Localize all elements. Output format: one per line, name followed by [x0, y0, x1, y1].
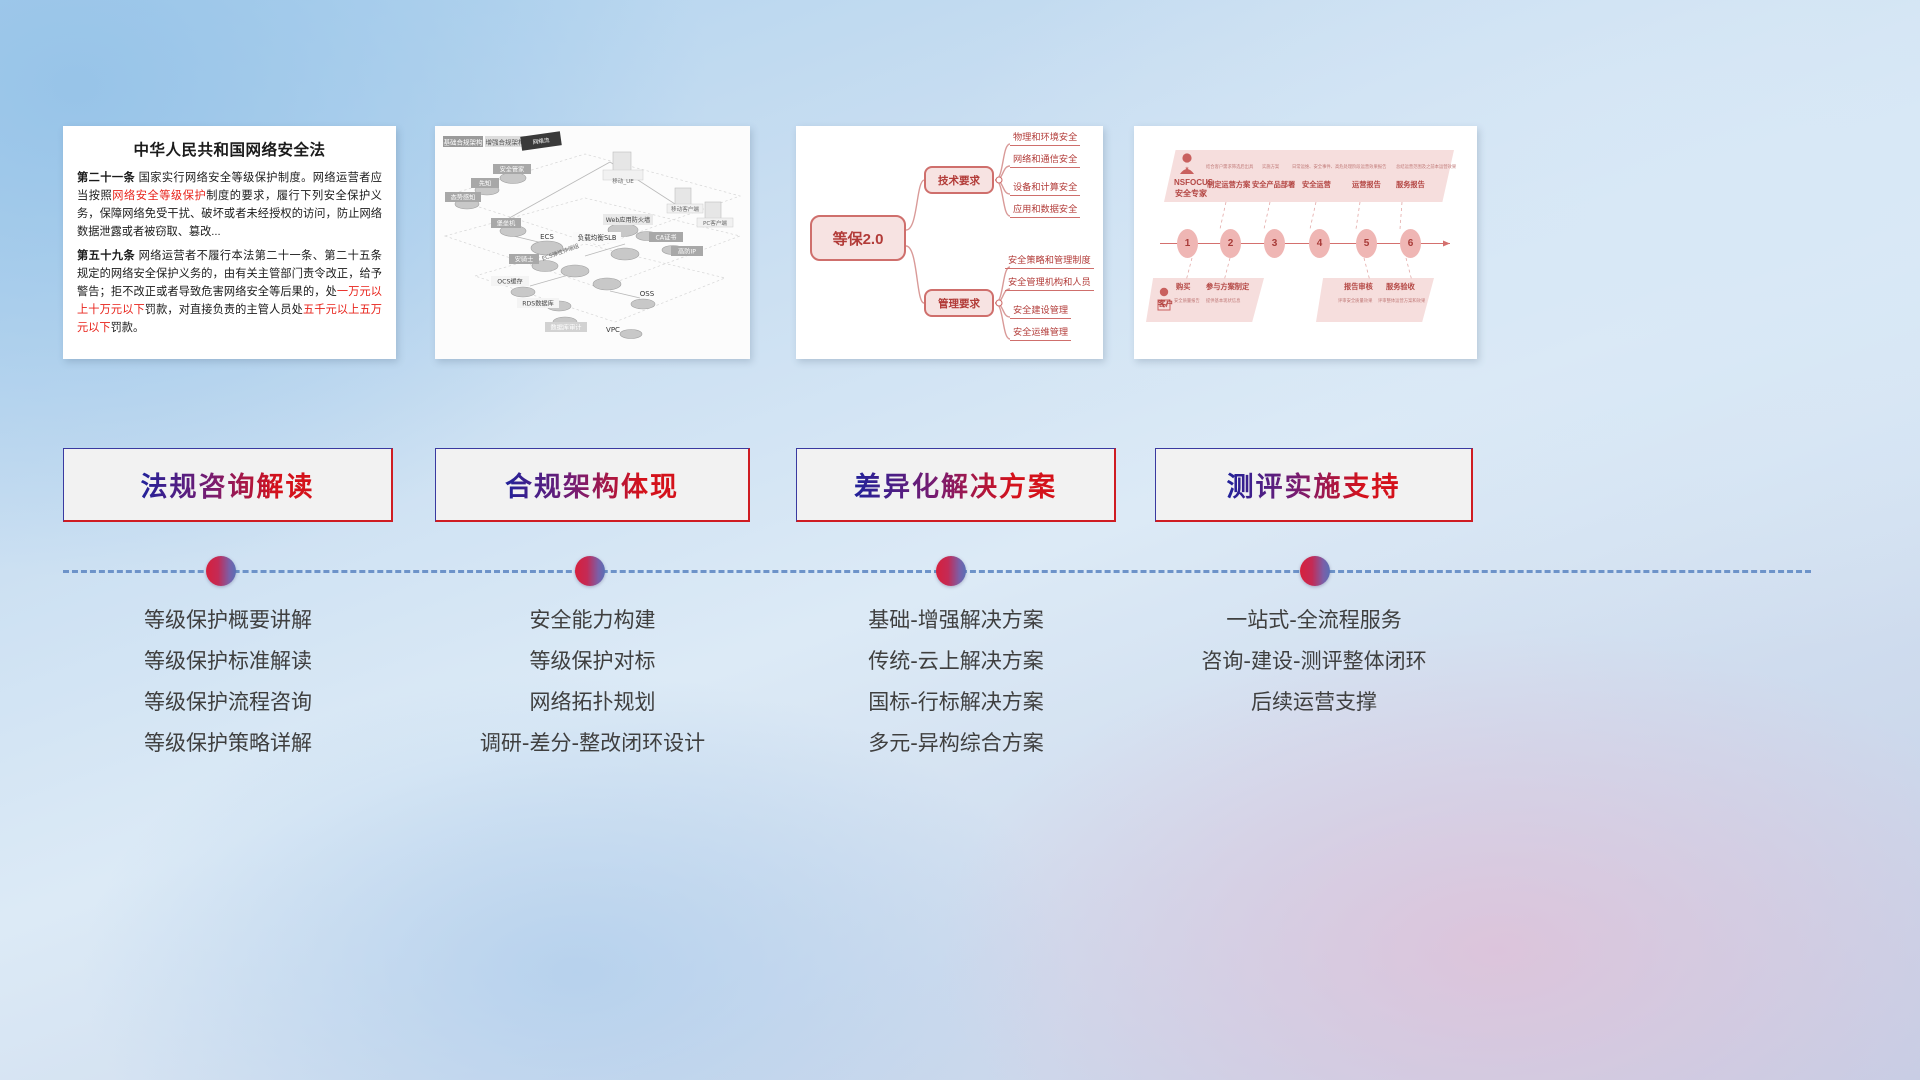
- process-top-sub: 实施方案: [1262, 164, 1279, 170]
- timeline-dot[interactable]: [936, 556, 966, 586]
- list-item: 等级保护概要讲解: [63, 600, 393, 641]
- mindmap: 等保2.0 技术要求 管理要求 物理和环境安全 网络和通信安全 设备和计算安全 …: [796, 126, 1103, 359]
- heading-box-compliance-architecture[interactable]: 合规架构体现: [435, 448, 750, 522]
- heading-box-regulation-consulting[interactable]: 法规咨询解读: [63, 448, 393, 522]
- process-top-sub: 结合客户需求筛选后出具: [1206, 164, 1253, 170]
- svg-text:移动客户端: 移动客户端: [671, 205, 699, 213]
- list-item: 等级保护策略详解: [63, 723, 393, 764]
- mindmap-leaf: 物理和环境安全: [1010, 131, 1080, 146]
- process-bottom-sub: 提供基本现状信息: [1206, 298, 1240, 304]
- list-column-compliance-architecture: 安全能力构建 等级保护对标 网络拓扑规划 调研-差分-整改闭环设计: [435, 600, 750, 764]
- process-bottom-sub: 评审整体运营方案和效果: [1378, 298, 1425, 304]
- thumbnail-cybersecurity-law[interactable]: 中华人民共和国网络安全法 第二十一条 国家实行网络安全等级保护制度。网络运营者应…: [63, 126, 396, 359]
- process-step: 1: [1177, 229, 1198, 258]
- process-step: 3: [1264, 229, 1285, 258]
- article-59-text-c: 罚款。: [111, 322, 145, 334]
- timeline: [0, 540, 1920, 602]
- heading-box-differentiated-solution[interactable]: 差异化解决方案: [796, 448, 1116, 522]
- svg-text:PC客户端: PC客户端: [703, 219, 727, 227]
- list-item: 基础-增强解决方案: [796, 600, 1116, 641]
- list-column-differentiated-solution: 基础-增强解决方案 传统-云上解决方案 国标-行标解决方案 多元-异构综合方案: [796, 600, 1116, 764]
- svg-text:RDS数据库: RDS数据库: [522, 300, 554, 308]
- list-column-assessment-support: 一站式-全流程服务 咨询-建设-测评整体闭环 后续运营支撑: [1155, 600, 1473, 723]
- svg-text:负载均衡SLB: 负载均衡SLB: [578, 233, 617, 242]
- process-bottom-sub: 评审安全质量效果: [1338, 298, 1372, 304]
- process-bottom-label: 服务验收: [1386, 282, 1415, 292]
- mindmap-leaf: 安全运维管理: [1010, 326, 1071, 341]
- process-bottom-sub: 安全质量报告: [1174, 298, 1200, 304]
- heading-label: 合规架构体现: [505, 465, 679, 504]
- process-customer: 客户: [1158, 298, 1173, 309]
- process-bottom-label: 参与方案制定: [1206, 282, 1249, 292]
- mindmap-leaf: 安全策略和管理制度: [1005, 254, 1094, 269]
- process-top-sub: 日常运维、安全事件、高危处理: [1292, 164, 1352, 170]
- process-top-label: 安全运营: [1302, 180, 1331, 190]
- list-item: 等级保护对标: [435, 641, 750, 682]
- svg-text:Web应用防火墙: Web应用防火墙: [606, 216, 650, 224]
- list-item: 多元-异构综合方案: [796, 723, 1116, 764]
- list-item: 网络拓扑规划: [435, 682, 750, 723]
- process-step: 5: [1356, 229, 1377, 258]
- article-59-label: 第五十九条: [77, 250, 135, 262]
- process-bottom-label: 报告审核: [1344, 282, 1373, 292]
- law-article-21: 第二十一条 国家实行网络安全等级保护制度。网络运营者应当按照网络安全等级保护制度…: [77, 169, 382, 242]
- timeline-dot[interactable]: [206, 556, 236, 586]
- law-document: 中华人民共和国网络安全法 第二十一条 国家实行网络安全等级保护制度。网络运营者应…: [63, 126, 396, 345]
- svg-text:安骑士: 安骑士: [515, 256, 534, 264]
- process-top-label: 服务报告: [1396, 180, 1425, 190]
- mindmap-leaf: 设备和计算安全: [1010, 181, 1080, 196]
- law-article-59: 第五十九条 网络运营者不履行本法第二十一条、第二十五条规定的网络安全保护义务的，…: [77, 247, 382, 338]
- process-top-label: 制定运营方案: [1207, 180, 1250, 190]
- law-title: 中华人民共和国网络安全法: [77, 138, 382, 160]
- article-21-highlight: 网络安全等级保护: [112, 190, 206, 202]
- mindmap-leaf: 网络和通信安全: [1010, 153, 1080, 168]
- process-top-sub: 总结运营范围及之前本运营效果: [1396, 164, 1456, 170]
- svg-text:堡垒机: 堡垒机: [497, 220, 516, 228]
- timeline-dot[interactable]: [1300, 556, 1330, 586]
- svg-text:基础合规架构: 基础合规架构: [444, 138, 484, 147]
- heading-row: 法规咨询解读 合规架构体现 差异化解决方案 测评实施支持: [0, 448, 1920, 528]
- thumbnail-row: 中华人民共和国网络安全法 第二十一条 国家实行网络安全等级保护制度。网络运营者应…: [0, 0, 1920, 440]
- mindmap-leaf: 应用和数据安全: [1010, 203, 1080, 218]
- mindmap-leaf: 安全建设管理: [1010, 304, 1071, 319]
- process-step: 6: [1400, 229, 1421, 258]
- process-top-sub: 阶段运营效果报告: [1352, 164, 1386, 170]
- svg-text:先知: 先知: [479, 180, 491, 188]
- process-top-label: 运营报告: [1352, 180, 1381, 190]
- heading-label: 测评实施支持: [1227, 465, 1401, 504]
- svg-text:OCS缓存: OCS缓存: [497, 278, 523, 286]
- svg-text:高防IP: 高防IP: [678, 248, 696, 256]
- svg-text:移动_UE: 移动_UE: [612, 177, 634, 185]
- process-top-label: 安全产品部署: [1252, 180, 1295, 190]
- mindmap-branch-technical: 技术要求: [924, 166, 994, 194]
- svg-text:安全管家: 安全管家: [500, 166, 525, 174]
- process-diagram: ★ 1 2 3 4 5 6 NSFOCUS 安全专家 结合客户需求筛选后出具 实…: [1134, 126, 1477, 359]
- list-item: 咨询-建设-测评整体闭环: [1155, 641, 1473, 682]
- list-item: 等级保护流程咨询: [63, 682, 393, 723]
- svg-text:CA证书: CA证书: [656, 234, 677, 242]
- list-item: 调研-差分-整改闭环设计: [435, 723, 750, 764]
- list-item: 安全能力构建: [435, 600, 750, 641]
- article-21-label: 第二十一条: [77, 172, 135, 184]
- list-item: 后续运营支撑: [1155, 682, 1473, 723]
- list-column-regulation-consulting: 等级保护概要讲解 等级保护标准解读 等级保护流程咨询 等级保护策略详解: [63, 600, 393, 764]
- list-item: 一站式-全流程服务: [1155, 600, 1473, 641]
- mindmap-branch-management: 管理要求: [924, 289, 994, 317]
- svg-text:增强合规架构: 增强合规架构: [486, 138, 526, 147]
- svg-text:数据库审计: 数据库审计: [551, 324, 582, 332]
- heading-box-assessment-support[interactable]: 测评实施支持: [1155, 448, 1473, 522]
- thumbnail-mindmap-dengbao[interactable]: 等保2.0 技术要求 管理要求 物理和环境安全 网络和通信安全 设备和计算安全 …: [796, 126, 1103, 359]
- process-bottom-label: 购买: [1176, 282, 1190, 292]
- svg-text:OSS: OSS: [640, 290, 655, 298]
- list-item: 传统-云上解决方案: [796, 641, 1116, 682]
- svg-text:态势感知: 态势感知: [451, 194, 476, 202]
- timeline-dot[interactable]: [575, 556, 605, 586]
- process-brand-sub: 安全专家: [1175, 188, 1207, 199]
- list-item: 等级保护标准解读: [63, 641, 393, 682]
- heading-label: 差异化解决方案: [854, 465, 1057, 504]
- mindmap-leaf: 安全管理机构和人员: [1005, 276, 1094, 291]
- svg-text:VPC: VPC: [606, 326, 620, 334]
- thumbnail-service-process[interactable]: ★ 1 2 3 4 5 6 NSFOCUS 安全专家 结合客户需求筛选后出具 实…: [1134, 126, 1477, 359]
- svg-text:★: ★: [1185, 166, 1190, 172]
- heading-label: 法规咨询解读: [141, 465, 315, 504]
- architecture-diagram: 基础合规架构 增强合规架构: [435, 126, 750, 359]
- process-step: 2: [1220, 229, 1241, 258]
- mindmap-root: 等保2.0: [810, 215, 906, 261]
- article-59-text-b: 罚款，对直接负责的主管人员处: [145, 304, 303, 316]
- thumbnail-compliance-architecture[interactable]: 基础合规架构 增强合规架构: [435, 126, 750, 359]
- list-item: 国标-行标解决方案: [796, 682, 1116, 723]
- svg-text:ECS: ECS: [540, 233, 554, 241]
- list-row: 等级保护概要讲解 等级保护标准解读 等级保护流程咨询 等级保护策略详解 安全能力…: [0, 600, 1920, 810]
- process-step: 4: [1309, 229, 1330, 258]
